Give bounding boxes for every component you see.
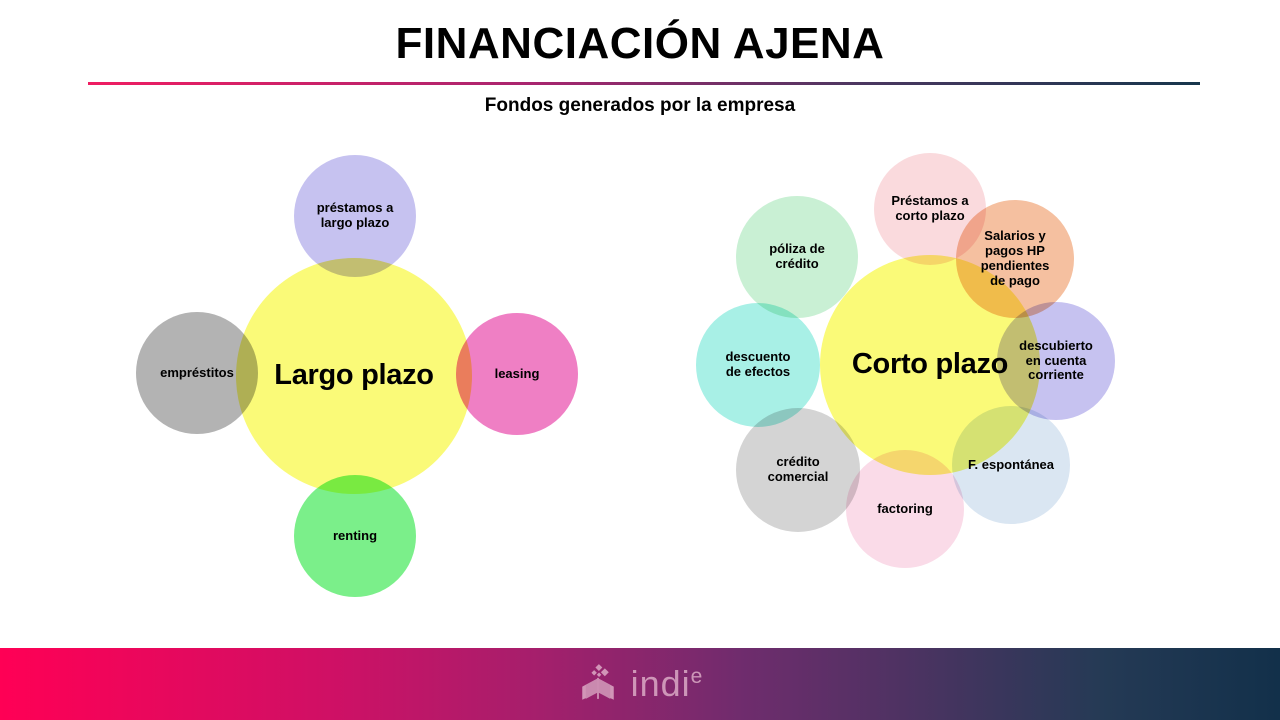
cluster-corto-plazo: póliza de crédito Préstamos a corto plaz…: [680, 150, 1200, 620]
bubble-label: factoring: [877, 502, 933, 517]
brand-logo: indie: [577, 663, 704, 705]
bubble-center-label: Largo plazo: [274, 359, 433, 392]
diagram-area: empréstitos préstamos a largo plazo Larg…: [0, 150, 1280, 620]
brand-wordmark: indie: [631, 666, 704, 702]
title-divider: [88, 82, 1200, 85]
bubble-label: empréstitos: [160, 366, 234, 381]
footer-bar: indie: [0, 648, 1280, 720]
bubble-center-largo-plazo[interactable]: Largo plazo: [236, 258, 472, 494]
open-book-icon: [577, 663, 619, 705]
bubble-label: póliza de crédito: [769, 242, 825, 272]
bubble-label: préstamos a largo plazo: [317, 201, 394, 231]
brand-wordmark-superscript: e: [691, 665, 704, 688]
bubble-center-label: Corto plazo: [852, 348, 1008, 381]
bubble-leasing[interactable]: leasing: [456, 313, 578, 435]
cluster-largo-plazo: empréstitos préstamos a largo plazo Larg…: [100, 150, 620, 620]
bubble-label: renting: [333, 529, 377, 544]
bubble-label: Préstamos a corto plazo: [891, 194, 968, 224]
bubble-label: crédito comercial: [768, 455, 829, 485]
subtitle: Fondos generados por la empresa: [0, 95, 1280, 117]
brand-wordmark-text: indi: [631, 663, 691, 704]
bubble-poliza-de-credito[interactable]: póliza de crédito: [736, 196, 858, 318]
bubble-label: descuento de efectos: [696, 350, 820, 380]
page-title: FINANCIACIÓN AJENA: [0, 0, 1280, 68]
bubble-label: leasing: [495, 367, 540, 382]
bubble-center-corto-plazo[interactable]: Corto plazo: [820, 255, 1040, 475]
